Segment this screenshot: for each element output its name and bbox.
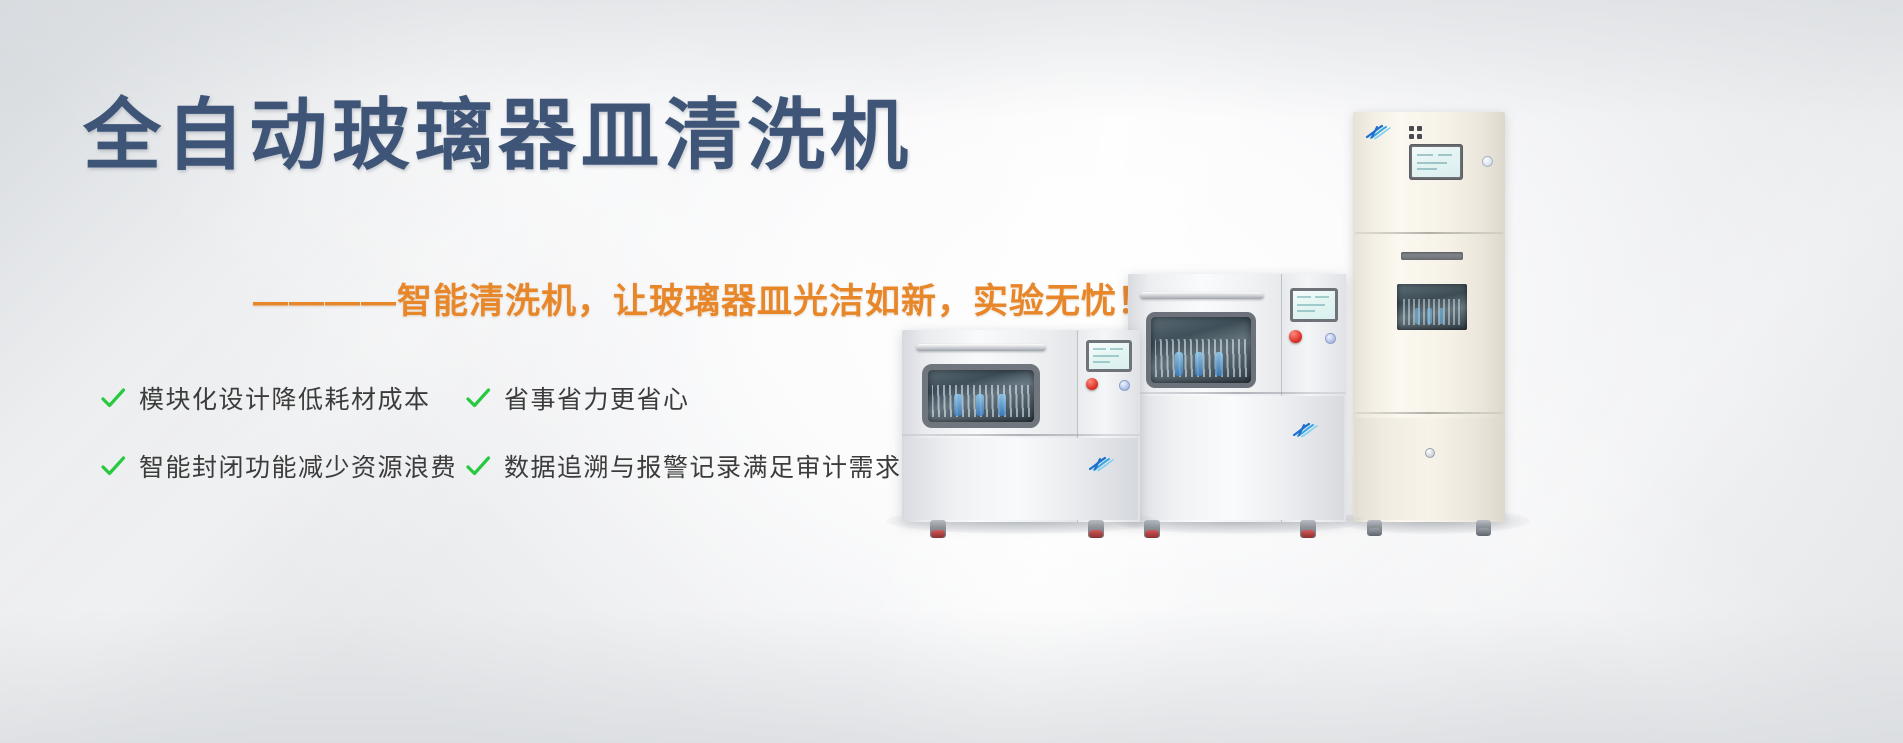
touchscreen-display	[1412, 147, 1460, 177]
indicator-dots-icon	[1409, 126, 1423, 139]
caster-wheel-icon	[1300, 520, 1316, 538]
emergency-stop-icon[interactable]	[1086, 378, 1098, 390]
tall-column-glassware-washer	[1353, 112, 1505, 522]
feature-item: 智能封闭功能减少资源浪费	[100, 448, 465, 484]
feature-row: 模块化设计降低耗材成本 省事省力更省心	[100, 380, 930, 416]
door-handle-icon[interactable]	[1140, 292, 1264, 299]
touchscreen-icon[interactable]	[1086, 340, 1132, 372]
viewing-window-icon	[1397, 284, 1467, 330]
caster-wheel-icon	[1088, 520, 1104, 538]
product-hero-banner: 全自动玻璃器皿清洗机 ————智能清洗机，让玻璃器皿光洁如新，实验无忧！ 模块化…	[0, 0, 1903, 743]
check-icon	[100, 385, 126, 411]
brand-logo-icon	[1365, 124, 1405, 140]
panel-seam	[902, 434, 1140, 436]
viewing-window-icon	[922, 364, 1040, 428]
viewing-window-icon	[1146, 312, 1256, 388]
vent-slot-icon	[1401, 252, 1463, 260]
check-icon	[100, 453, 126, 479]
caster-wheel-icon	[1476, 520, 1491, 536]
caster-wheel-icon	[930, 520, 946, 538]
brand-logo-icon	[1292, 422, 1332, 438]
banner-title: 全自动玻璃器皿清洗机	[83, 96, 913, 174]
feature-item: 省事省力更省心	[465, 380, 690, 416]
freestanding-glassware-washer	[1128, 274, 1346, 522]
touchscreen-icon[interactable]	[1409, 144, 1463, 180]
feature-label: 模块化设计降低耗材成本	[139, 380, 431, 416]
feature-label: 省事省力更省心	[504, 380, 690, 416]
feature-label: 数据追溯与报警记录满足审计需求	[504, 448, 902, 484]
product-image-group	[880, 0, 1903, 743]
lower-door-panel[interactable]	[904, 438, 1138, 520]
caster-wheel-icon	[1367, 520, 1382, 536]
door-handle-icon[interactable]	[916, 344, 1046, 351]
touchscreen-display	[1293, 291, 1335, 319]
panel-seam	[1355, 412, 1503, 414]
feature-item: 数据追溯与报警记录满足审计需求	[465, 448, 902, 484]
feature-label: 智能封闭功能减少资源浪费	[139, 448, 457, 484]
touchscreen-display	[1089, 343, 1129, 369]
feature-list: 模块化设计降低耗材成本 省事省力更省心 智能封闭功能减少资源浪费 数据追溯	[100, 380, 930, 516]
check-icon	[465, 453, 491, 479]
undercounter-glassware-washer	[902, 330, 1140, 522]
lower-door-panel[interactable]	[1355, 418, 1503, 520]
feature-row: 智能封闭功能减少资源浪费 数据追溯与报警记录满足审计需求	[100, 448, 930, 484]
panel-seam	[1128, 392, 1346, 394]
brand-logo-icon	[1088, 456, 1128, 472]
indicator-light-icon[interactable]	[1119, 380, 1130, 391]
emergency-stop-icon[interactable]	[1289, 330, 1302, 343]
glassware-rack	[1403, 299, 1461, 325]
feature-item: 模块化设计降低耗材成本	[100, 380, 465, 416]
panel-seam	[1355, 232, 1503, 234]
door-lock-icon[interactable]	[1425, 448, 1435, 458]
indicator-light-icon[interactable]	[1482, 156, 1493, 167]
check-icon	[465, 385, 491, 411]
touchscreen-icon[interactable]	[1290, 288, 1338, 322]
lower-door-panel[interactable]	[1130, 396, 1344, 520]
indicator-light-icon[interactable]	[1325, 333, 1336, 344]
